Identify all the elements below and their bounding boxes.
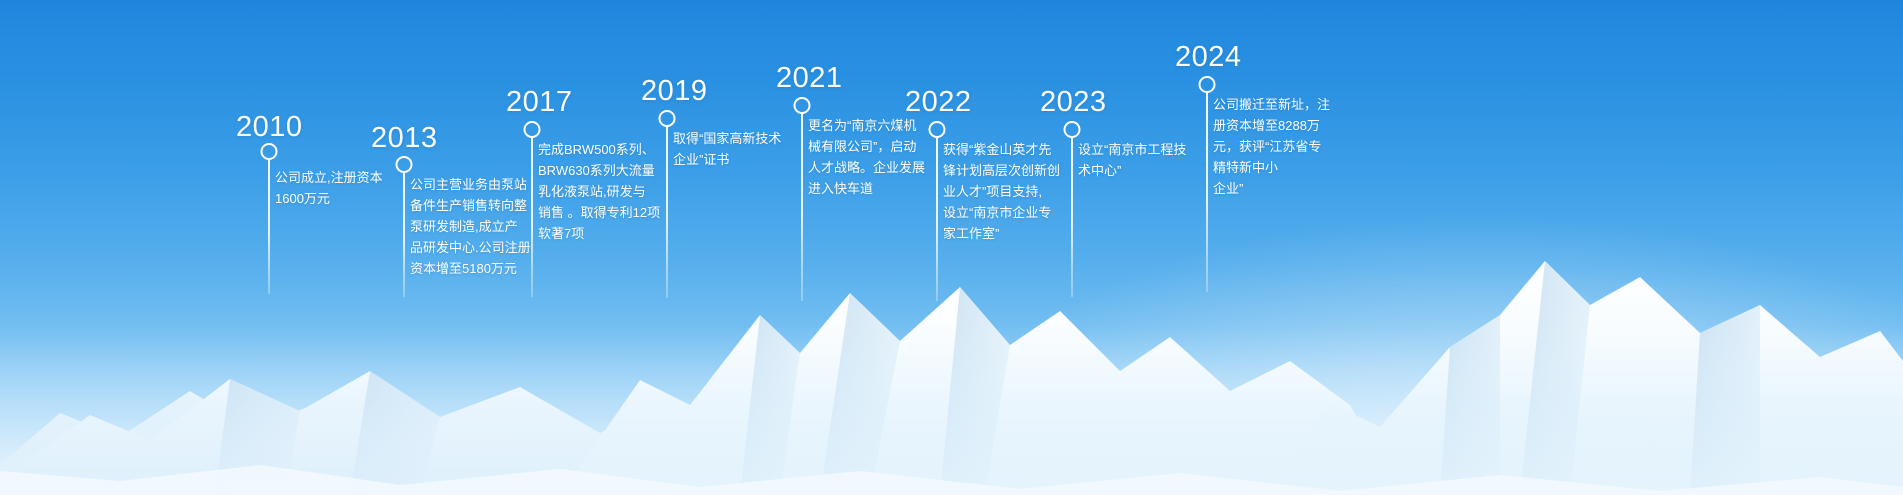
timeline-infographic: 2010公司成立,注册资本 1600万元2013公司主营业务由泵站 备件生产销售…: [0, 0, 1903, 495]
pin-stem-line: [403, 172, 405, 297]
timeline-pin: [801, 97, 802, 301]
pin-stem-line: [1071, 137, 1073, 297]
timeline-year-label: 2022: [905, 88, 972, 117]
timeline-pin: [1206, 76, 1207, 292]
timeline-pin: [666, 110, 667, 298]
circle-marker-icon: [658, 110, 675, 127]
pin-stem-line: [1206, 92, 1208, 292]
circle-marker-icon: [260, 143, 277, 160]
pin-stem-line: [666, 126, 668, 298]
circle-marker-icon: [523, 121, 540, 138]
timeline-event-description: 设立“南京市工程技 术中心”: [1078, 139, 1218, 181]
timeline-year-label: 2021: [776, 64, 843, 93]
timeline-year-label: 2017: [506, 88, 573, 117]
timeline-event-description: 更名为“南京六煤机 械有限公司”，启动 人才战略。企业发展 进入快车道: [808, 115, 948, 199]
timeline-event-description: 公司搬迁至新址，注 册资本增至8288万 元，获评“江苏省专 精特新中小 企业”: [1213, 94, 1363, 199]
timeline-track: 2010公司成立,注册资本 1600万元2013公司主营业务由泵站 备件生产销售…: [0, 0, 1903, 495]
circle-marker-icon: [395, 156, 412, 173]
pin-stem-line: [936, 137, 938, 301]
timeline-year-label: 2023: [1040, 88, 1107, 117]
circle-marker-icon: [928, 121, 945, 138]
timeline-event-description: 取得“国家高新技术 企业”证书: [673, 128, 813, 170]
timeline-pin: [268, 143, 269, 294]
timeline-event-description: 公司主营业务由泵站 备件生产销售转向整 泵研发制造,成立产 品研发中心.公司注册…: [410, 174, 545, 279]
timeline-event-description: 完成BRW500系列、 BRW630系列大流量 乳化液泵站,研发与 销售 。取得…: [538, 139, 678, 244]
pin-stem-line: [801, 113, 803, 301]
timeline-pin: [936, 121, 937, 301]
pin-stem-line: [268, 159, 270, 294]
timeline-event-description: 获得“紫金山英才先 锋计划高层次创新创 业人才”项目支持, 设立“南京市企业专 …: [943, 139, 1083, 244]
timeline-year-label: 2010: [236, 113, 303, 142]
pin-stem-line: [531, 137, 533, 297]
timeline-pin: [403, 156, 404, 297]
circle-marker-icon: [1063, 121, 1080, 138]
circle-marker-icon: [793, 97, 810, 114]
timeline-year-label: 2019: [641, 77, 708, 106]
timeline-pin: [1071, 121, 1072, 297]
timeline-pin: [531, 121, 532, 297]
timeline-year-label: 2013: [371, 124, 438, 153]
circle-marker-icon: [1198, 76, 1215, 93]
timeline-year-label: 2024: [1175, 43, 1242, 72]
